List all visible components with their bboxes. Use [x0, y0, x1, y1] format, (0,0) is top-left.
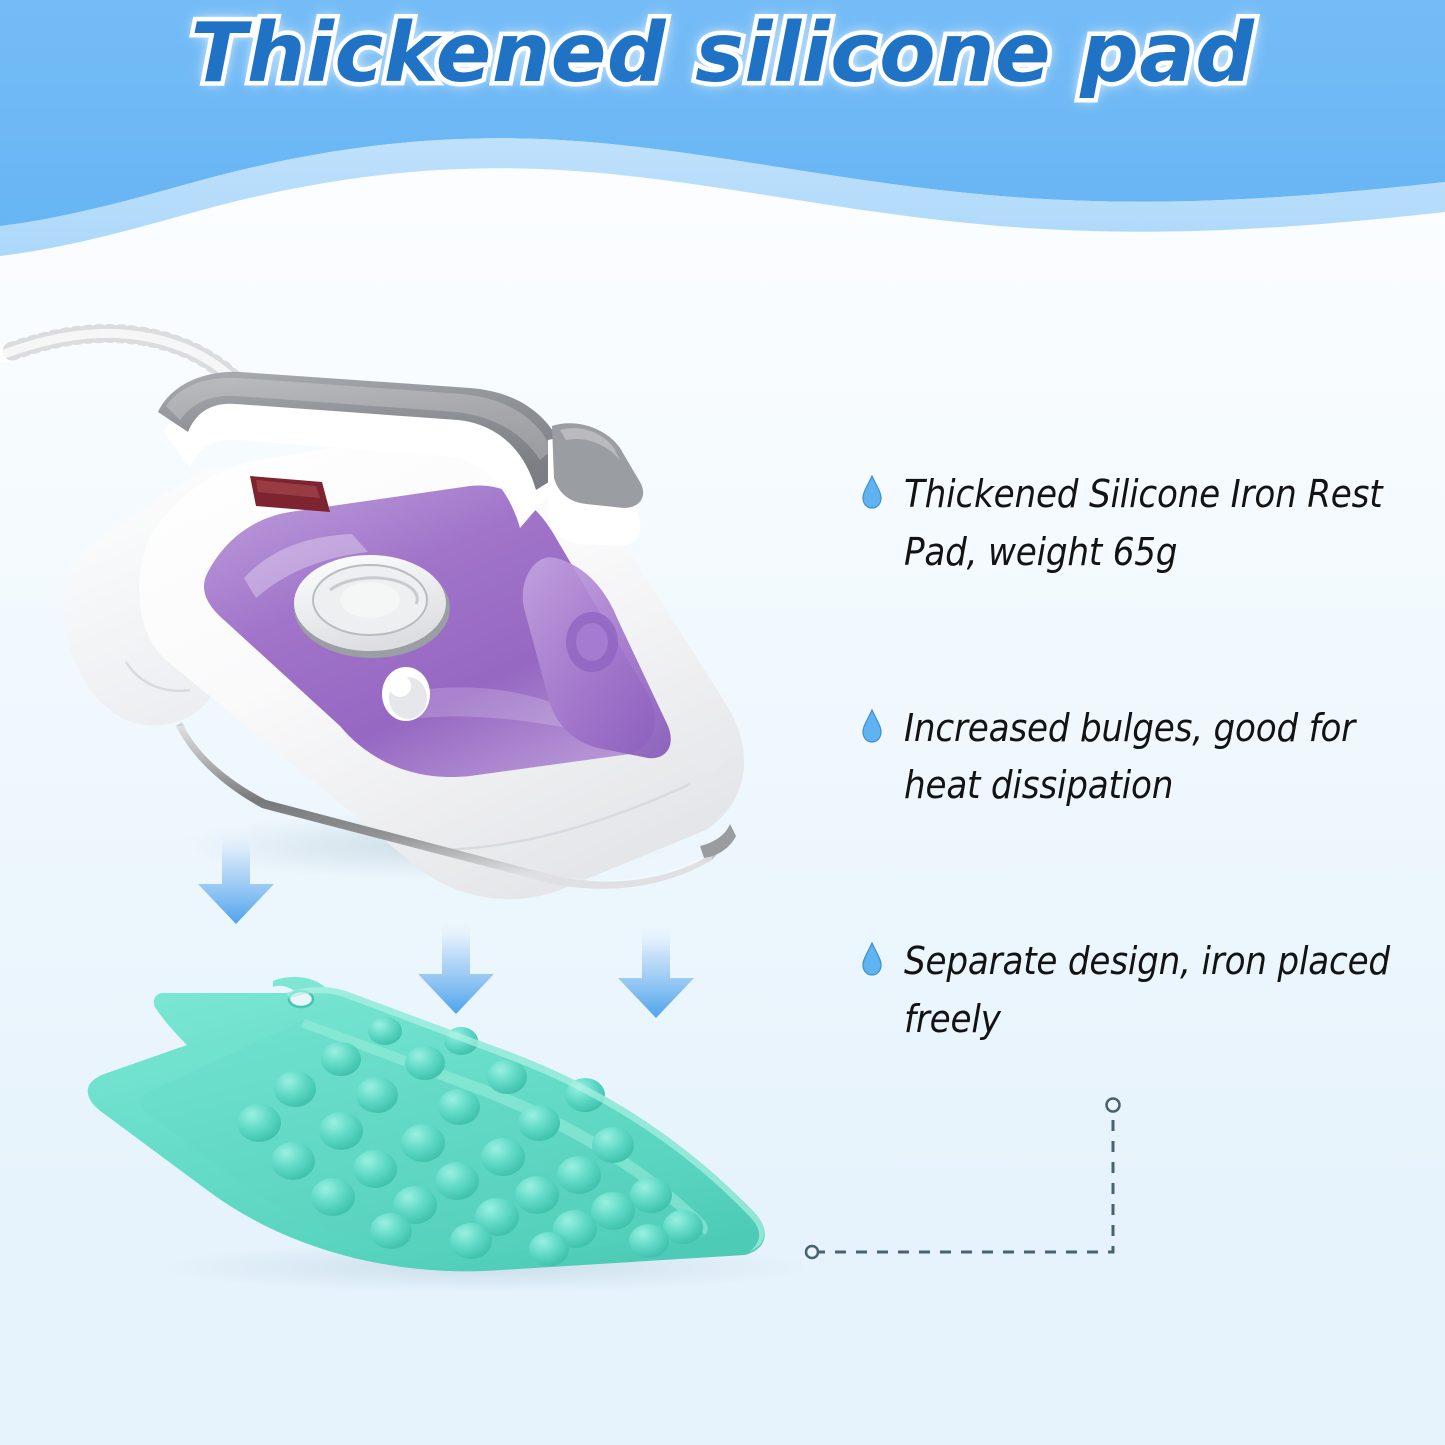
feature-item: Increased bulges, good for heat dissipat…	[862, 700, 1422, 816]
callout-endpoint-start	[806, 1246, 818, 1258]
callout-path	[814, 1112, 1113, 1252]
callout-endpoint-end	[1107, 1099, 1120, 1112]
callout-leader-line	[780, 1080, 1180, 1290]
water-drop-icon	[862, 475, 882, 509]
product-infographic: Thickened silicone pad	[0, 0, 1445, 1445]
feature-item: Thickened Silicone Iron Rest Pad, weight…	[862, 466, 1422, 582]
water-drop-icon	[862, 709, 882, 743]
feature-text: Thickened Silicone Iron Rest Pad, weight…	[904, 466, 1420, 582]
feature-text: Separate design, iron placed freely	[904, 933, 1420, 1049]
water-drop-icon	[862, 942, 882, 976]
drop-arrow-left	[198, 822, 274, 924]
silicone-pad-image	[55, 955, 865, 1295]
feature-list: Thickened Silicone Iron Rest Pad, weight…	[862, 466, 1422, 1049]
feature-text: Increased bulges, good for heat dissipat…	[904, 700, 1420, 816]
feature-item: Separate design, iron placed freely	[862, 933, 1422, 1049]
